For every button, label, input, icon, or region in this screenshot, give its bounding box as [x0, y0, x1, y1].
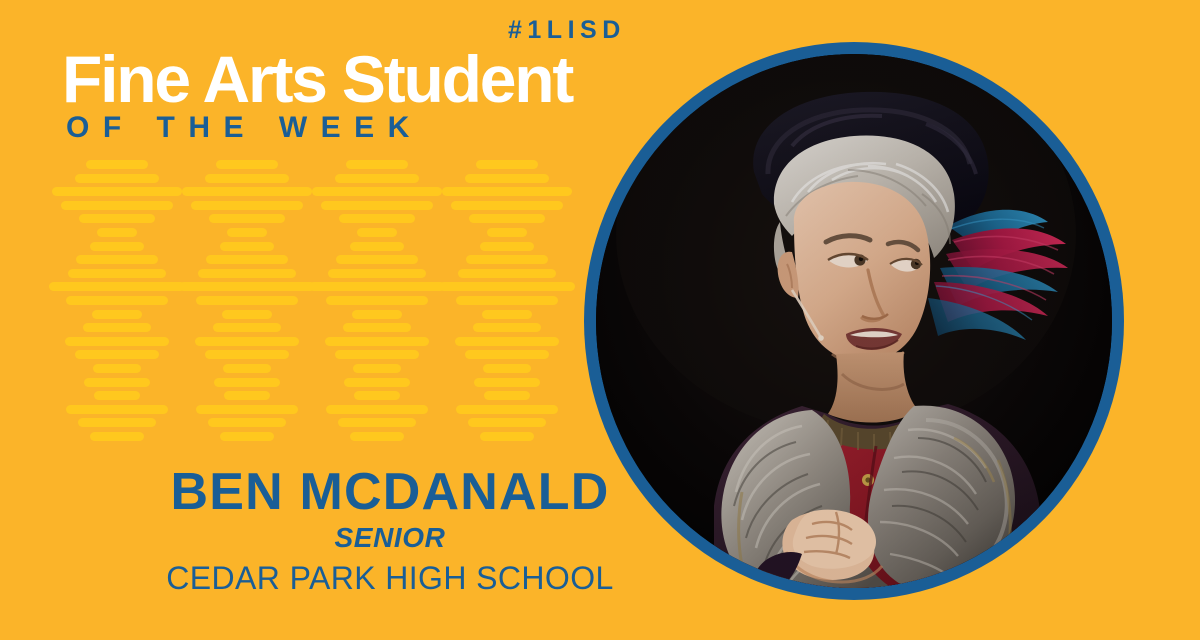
waveform-bar [487, 228, 527, 237]
waveform-bar [473, 323, 541, 332]
waveform-column [447, 160, 567, 450]
waveform-bar [321, 201, 433, 210]
waveform-bar [94, 391, 140, 400]
waveform-bar [92, 310, 142, 319]
waveform-bar [484, 391, 530, 400]
waveform-bar [326, 405, 428, 414]
waveform-bar [336, 255, 418, 264]
hashtag-label: #1LISD [508, 18, 626, 43]
waveform-bar [79, 214, 155, 223]
waveform-bar [353, 364, 401, 373]
waveform-bar [214, 378, 280, 387]
waveform-bar [339, 214, 415, 223]
waveform-bar [52, 187, 182, 196]
waveform-bar [325, 337, 429, 346]
waveform-bar [350, 432, 404, 441]
waveform-bar [439, 282, 575, 291]
waveform-bar [61, 201, 173, 210]
waveform-bar [65, 337, 169, 346]
waveform-bar [49, 282, 185, 291]
waveform-bar [205, 350, 289, 359]
waveform-bar [75, 350, 159, 359]
portrait-ring [584, 42, 1124, 600]
waveform-bar [456, 296, 558, 305]
waveform-bar [344, 378, 410, 387]
waveform-bar [97, 228, 137, 237]
waveform-bar [350, 242, 404, 251]
waveform-bar [468, 418, 546, 427]
waveform-bar [480, 242, 534, 251]
waveform-bar [354, 391, 400, 400]
waveform-bar [83, 323, 151, 332]
waveform-bar [335, 350, 419, 359]
portrait-photo-mask [596, 54, 1112, 588]
waveform-bar [206, 255, 288, 264]
waveform-bar [196, 405, 298, 414]
waveform-column [57, 160, 177, 450]
student-photo [596, 54, 1112, 588]
waveform-bar [66, 405, 168, 414]
waveform-bar [338, 418, 416, 427]
waveform-bar [483, 364, 531, 373]
waveform-bar [312, 187, 442, 196]
waveform-bar [482, 310, 532, 319]
waveform-bar [465, 350, 549, 359]
waveform-bar [78, 418, 156, 427]
waveform-bar [179, 282, 315, 291]
waveform-bar [309, 282, 445, 291]
waveform-bar [196, 296, 298, 305]
waveform-bar [328, 269, 426, 278]
waveform-column [187, 160, 307, 450]
waveform-bar [442, 187, 572, 196]
waveform-bar [195, 337, 299, 346]
waveform-bar [352, 310, 402, 319]
waveform-column [317, 160, 437, 450]
waveform-bar [335, 174, 419, 183]
waveform-bar [93, 364, 141, 373]
waveform-bar [191, 201, 303, 210]
waveform-bar [227, 228, 267, 237]
waveform-bar [205, 174, 289, 183]
waveform-bar [76, 255, 158, 264]
page-subtitle: OF THE WEEK [66, 113, 423, 143]
page-title: Fine Arts Student [62, 46, 572, 112]
waveform-bar [474, 378, 540, 387]
waveform-bar [90, 432, 144, 441]
waveform-bar [198, 269, 296, 278]
waveform-bar [68, 269, 166, 278]
waveform-bar [346, 160, 408, 169]
waveform-bar [216, 160, 278, 169]
waveform-bar [451, 201, 563, 210]
waveform-bar [469, 214, 545, 223]
waveform-bar [86, 160, 148, 169]
waveform-bar [476, 160, 538, 169]
waveform-bar [458, 269, 556, 278]
waveform-bar [456, 405, 558, 414]
waveform-bar [209, 214, 285, 223]
waveform-bar [357, 228, 397, 237]
waveform-bar [480, 432, 534, 441]
waveform-bar [213, 323, 281, 332]
waveform-bar [208, 418, 286, 427]
waveform-bar [223, 364, 271, 373]
poster-canvas: #1LISD Fine Arts Student OF THE WEEK BEN… [0, 0, 1200, 640]
waveform-bar [220, 432, 274, 441]
waveform-bar [455, 337, 559, 346]
waveform-bar [182, 187, 312, 196]
waveform-bar [220, 242, 274, 251]
waveform-bar [326, 296, 428, 305]
waveform-bar [224, 391, 270, 400]
audio-waveform-icon [0, 160, 600, 450]
waveform-bar [222, 310, 272, 319]
waveform-bar [66, 296, 168, 305]
waveform-bar [84, 378, 150, 387]
waveform-bar [465, 174, 549, 183]
waveform-bar [90, 242, 144, 251]
waveform-bar [466, 255, 548, 264]
waveform-bar [75, 174, 159, 183]
waveform-bar [343, 323, 411, 332]
